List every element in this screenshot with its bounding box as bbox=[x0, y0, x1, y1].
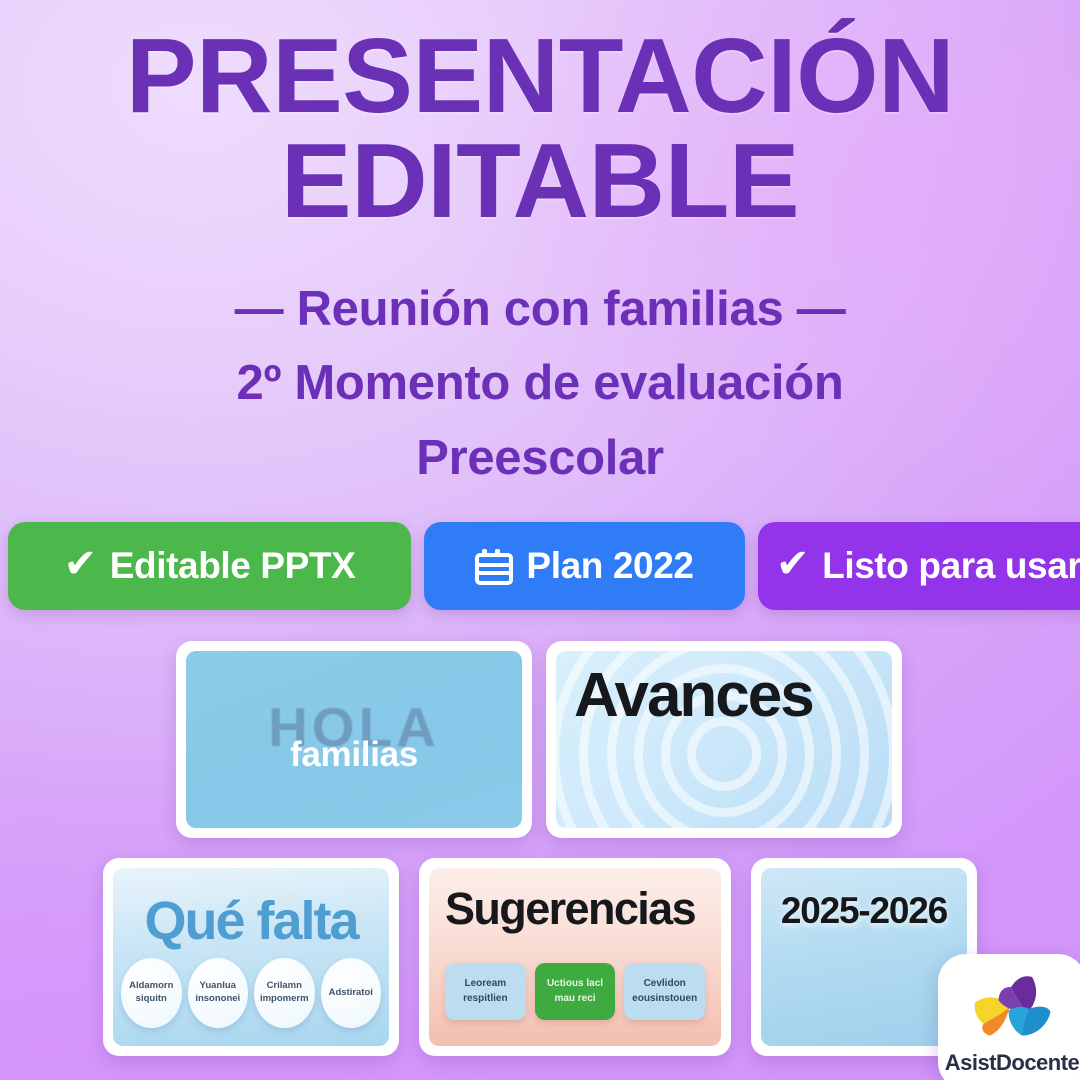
badge-label: Listo para usar bbox=[822, 545, 1080, 587]
calendar-icon bbox=[475, 549, 513, 585]
subtitle: — Reunión con familias — 2º Momento de e… bbox=[0, 272, 1080, 495]
slide-subheading: familias bbox=[186, 735, 522, 775]
slide-card-hola[interactable]: HOLA familias bbox=[176, 641, 532, 838]
slide-preview: Avances bbox=[556, 651, 892, 828]
poster-canvas: PRESENTACIÓN EDITABLE — Reunión con fami… bbox=[0, 0, 1080, 1080]
slide-heading: Qué falta bbox=[119, 894, 383, 948]
subtitle-line-2: 2º Momento de evaluación bbox=[0, 346, 1080, 420]
slide-card-que-falta[interactable]: Qué falta Aldamorn siquitn Yuanlua inson… bbox=[103, 858, 399, 1056]
suggestion-box: Leoream respitlien bbox=[445, 963, 526, 1020]
feature-badge-row: ✔ Editable PPTX Plan 2022 ✔ Listo para u… bbox=[8, 522, 1072, 610]
brand-logo-badge[interactable]: AsistDocente bbox=[938, 954, 1080, 1080]
suggestion-box: Cevlidon eousinstouen bbox=[624, 963, 705, 1020]
badge-listo-para-usar[interactable]: ✔ Listo para usar bbox=[758, 522, 1080, 610]
bubble-item: Aldamorn siquitn bbox=[121, 958, 182, 1028]
brand-name: AsistDocente bbox=[945, 1050, 1080, 1076]
suggestion-box: Uctious lacl mau reci bbox=[535, 963, 616, 1020]
badge-label: Plan 2022 bbox=[526, 545, 693, 587]
title-line-1: PRESENTACIÓN bbox=[0, 24, 1080, 129]
pinwheel-logo-icon bbox=[969, 972, 1055, 1044]
badge-editable-pptx[interactable]: ✔ Editable PPTX bbox=[8, 522, 411, 610]
page-title: PRESENTACIÓN EDITABLE bbox=[0, 24, 1080, 234]
slide-heading: Sugerencias bbox=[445, 886, 695, 931]
slide-preview: 2025-2026 bbox=[761, 868, 967, 1046]
check-icon: ✔ bbox=[776, 544, 809, 584]
bubble-item: Yuanlua insononei bbox=[188, 958, 249, 1028]
slide-preview: Qué falta Aldamorn siquitn Yuanlua inson… bbox=[113, 868, 389, 1046]
slide-preview: HOLA familias bbox=[186, 651, 522, 828]
check-icon: ✔ bbox=[64, 544, 97, 584]
slide-card-avances[interactable]: Avances bbox=[546, 641, 902, 838]
slide-preview: Sugerencias Leoream respitlien Uctious l… bbox=[429, 868, 721, 1046]
slide-card-sugerencias[interactable]: Sugerencias Leoream respitlien Uctious l… bbox=[419, 858, 731, 1056]
bubble-item: Adstiratoi bbox=[321, 958, 382, 1028]
suggestion-box-group: Leoream respitlien Uctious lacl mau reci… bbox=[445, 963, 705, 1020]
title-line-2: EDITABLE bbox=[0, 129, 1080, 234]
badge-plan-2022[interactable]: Plan 2022 bbox=[424, 522, 745, 610]
slide-heading: 2025-2026 bbox=[761, 890, 967, 932]
subtitle-line-1: — Reunión con familias — bbox=[0, 272, 1080, 346]
slide-heading: Avances bbox=[574, 665, 813, 727]
bubble-item: Crilamn impomerm bbox=[254, 958, 315, 1028]
subtitle-line-3: Preescolar bbox=[0, 421, 1080, 495]
badge-label: Editable PPTX bbox=[110, 545, 356, 587]
bubble-group: Aldamorn siquitn Yuanlua insononei Crila… bbox=[121, 958, 381, 1028]
